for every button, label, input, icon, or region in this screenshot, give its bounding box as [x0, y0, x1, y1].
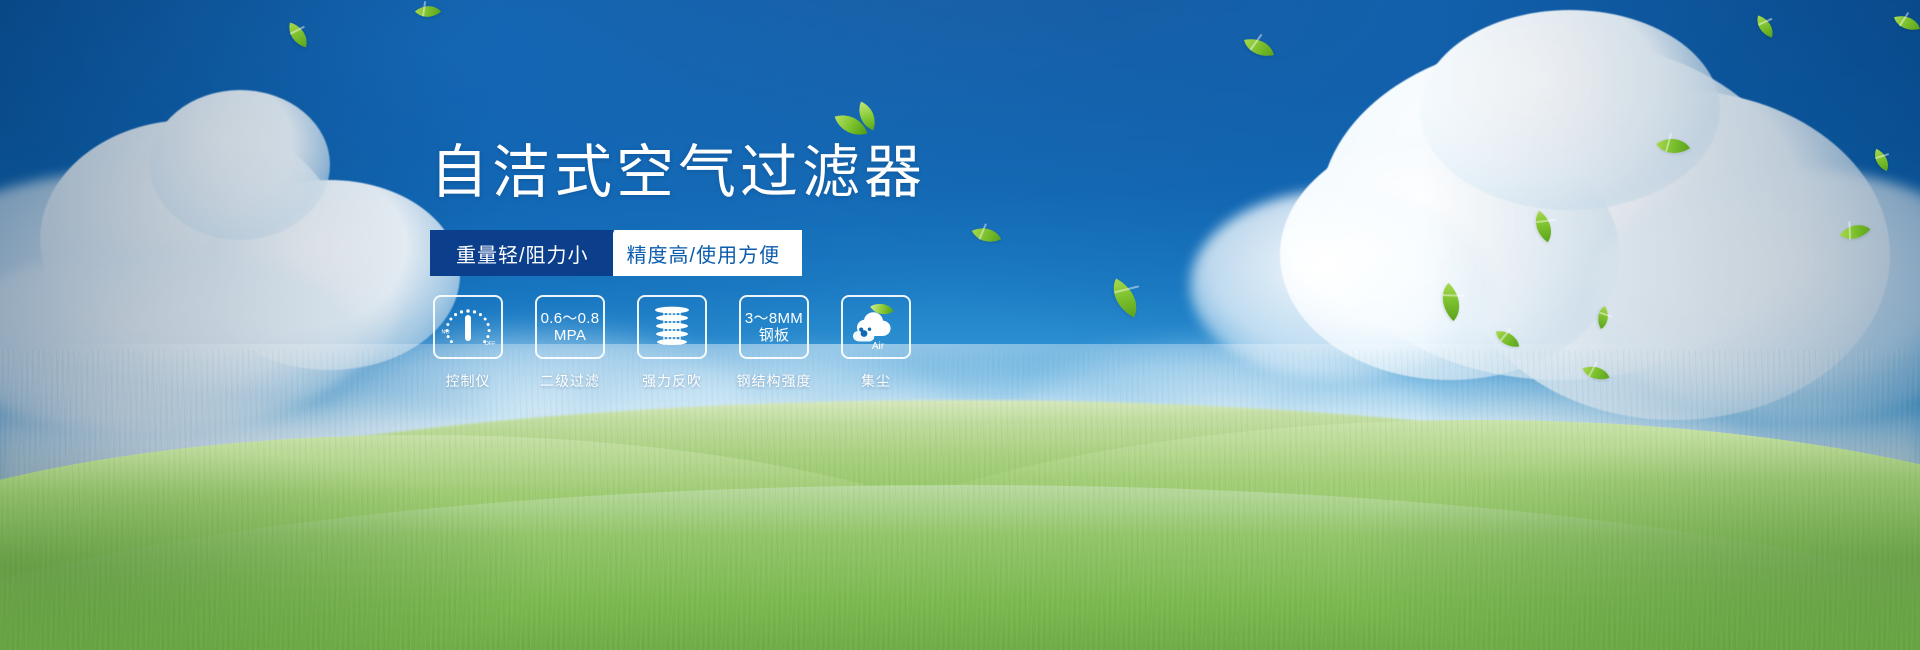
- feature-label: 钢结构强度: [737, 371, 812, 391]
- feature-item-controller[interactable]: NO OFF 控制仪: [430, 295, 506, 391]
- feature-list: NO OFF 控制仪 0.6～0.8 MPA 二级过滤: [430, 295, 914, 391]
- feature-label: 控制仪: [446, 371, 491, 391]
- feature-label: 强力反吹: [642, 371, 702, 391]
- tagline-secondary: 精度高/使用方便: [593, 230, 803, 276]
- feature-item-pressure[interactable]: 0.6～0.8 MPA 二级过滤: [532, 295, 608, 391]
- filter-coil-icon: [647, 303, 697, 351]
- feature-icon-box: NO OFF: [433, 295, 503, 359]
- steel-plate-icon: 3～8MM 钢板: [745, 310, 803, 344]
- feature-item-steel[interactable]: 3～8MM 钢板 钢结构强度: [736, 295, 812, 391]
- air-caption: Air: [872, 341, 885, 352]
- tagline-group: 重量轻/阻力小 精度高/使用方便: [430, 230, 802, 276]
- feature-icon-box: 0.6～0.8 MPA: [535, 295, 605, 359]
- svg-text:NO: NO: [441, 330, 449, 336]
- feature-item-blowback[interactable]: 强力反吹: [634, 295, 710, 391]
- feature-label: 二级过滤: [540, 371, 600, 391]
- tagline-primary: 重量轻/阻力小: [430, 230, 613, 276]
- banner-content: 自洁式空气过滤器 重量轻/阻力小 精度高/使用方便: [0, 0, 1920, 650]
- feature-icon-box: 3～8MM 钢板: [739, 295, 809, 359]
- feature-icon-box: Air: [841, 295, 911, 359]
- feature-value-line2: MPA: [541, 327, 600, 344]
- dial-knob-icon: NO OFF: [439, 302, 497, 352]
- feature-value-line1: 0.6～0.8: [541, 310, 600, 327]
- feature-label: 集尘: [861, 371, 891, 391]
- feature-value-line1: 3～8MM: [745, 310, 803, 327]
- feature-value-line2: 钢板: [745, 327, 803, 344]
- feature-icon-box: [637, 295, 707, 359]
- promo-banner: 自洁式空气过滤器 重量轻/阻力小 精度高/使用方便: [0, 0, 1920, 650]
- pressure-value-icon: 0.6～0.8 MPA: [541, 310, 600, 344]
- page-title: 自洁式空气过滤器: [430, 144, 926, 202]
- svg-text:OFF: OFF: [485, 341, 496, 347]
- feature-item-dust[interactable]: Air 集尘: [838, 295, 914, 391]
